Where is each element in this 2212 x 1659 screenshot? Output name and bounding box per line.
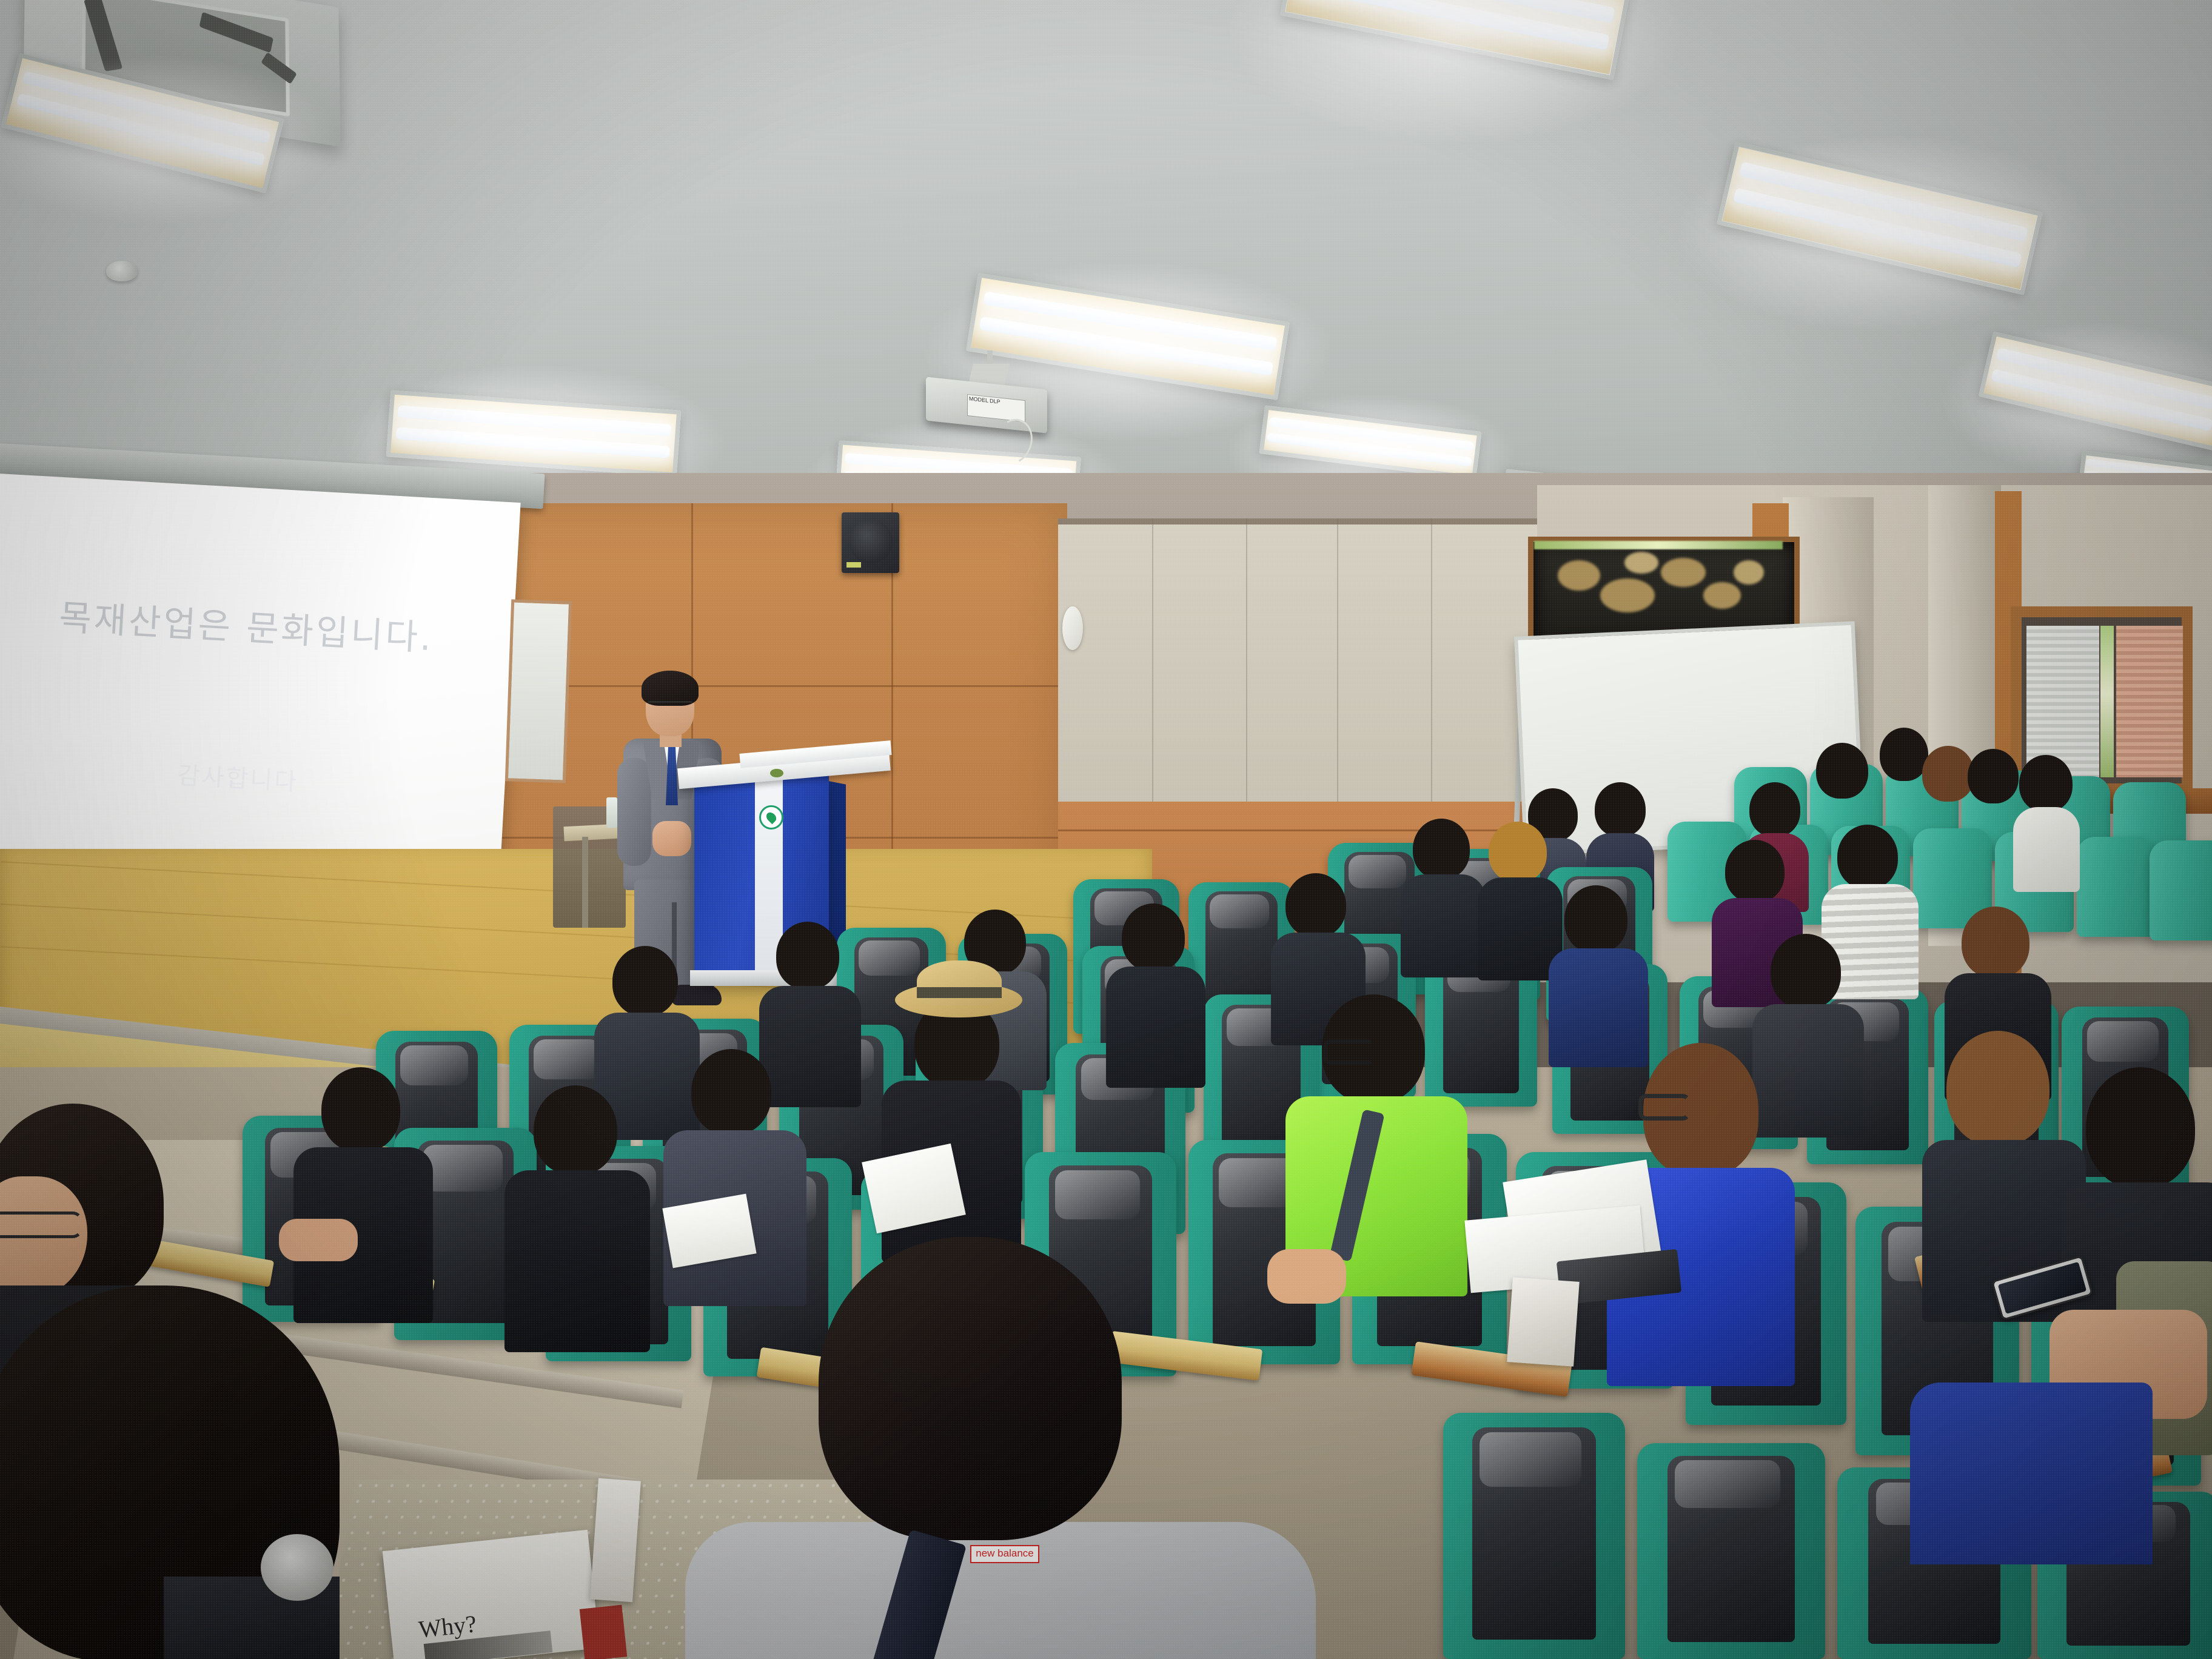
shirt-brand-tag: new balance xyxy=(970,1545,1039,1563)
glasses-icon xyxy=(1323,1039,1374,1065)
slide-subtitle: 감사합니다 xyxy=(177,756,300,797)
slide-title: 목재산업은 문화입니다. xyxy=(58,589,435,660)
wall-light-fixture-icon xyxy=(1062,606,1083,650)
lecture-hall-photo: MODEL DLP 목재산업은 문화입니다. 감사합니다 xyxy=(0,0,2212,1659)
arm xyxy=(279,1219,358,1261)
foreground-audience-center: new balance xyxy=(685,1237,1316,1659)
wainscot-line xyxy=(1058,829,1537,831)
booklet-red-edge xyxy=(580,1605,628,1659)
glasses-icon xyxy=(648,701,692,711)
smoke-detector-icon xyxy=(106,261,138,281)
window-gap-light xyxy=(2100,626,2114,777)
presenter-hands xyxy=(652,821,691,856)
seat[interactable] xyxy=(2077,837,2156,937)
side-whiteboard xyxy=(505,599,572,783)
window-blinds-right xyxy=(2116,626,2183,777)
microphone-icon xyxy=(770,769,783,777)
jeans xyxy=(1910,1382,2153,1564)
seat[interactable] xyxy=(1637,1443,1825,1659)
foreground-head-center xyxy=(819,1237,1122,1540)
window-light-slit xyxy=(1534,541,1783,549)
presenter-shoe xyxy=(672,985,722,1005)
milk-carton-icon xyxy=(1507,1277,1579,1366)
acoustic-wall-panel xyxy=(1058,518,1537,809)
side-table-leg xyxy=(582,837,588,928)
standing-card xyxy=(590,1478,641,1602)
headphone-icon xyxy=(261,1534,333,1601)
podium-logo-icon xyxy=(759,805,783,829)
window-blinds-left xyxy=(2026,626,2099,777)
glasses-icon xyxy=(0,1212,82,1238)
seat[interactable] xyxy=(2150,840,2212,940)
wall-speaker-icon xyxy=(842,512,899,573)
gray-tshirt xyxy=(685,1522,1316,1659)
seat[interactable] xyxy=(1443,1413,1625,1659)
glasses-icon xyxy=(1638,1094,1691,1121)
